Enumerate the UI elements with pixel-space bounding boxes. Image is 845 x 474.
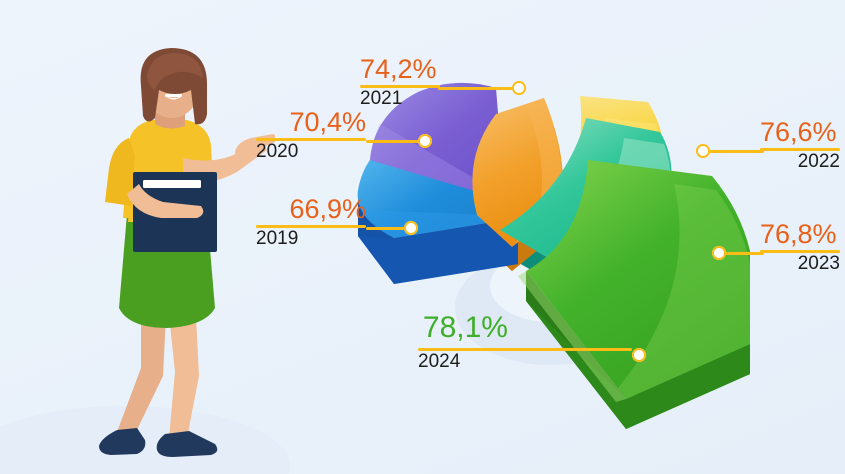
- woman-pointing-illustration: [55, 46, 275, 466]
- marker-dot-2020: [418, 134, 432, 148]
- marker-dot-2024: [632, 348, 646, 362]
- callout-2020-value: 70,4%: [256, 108, 366, 136]
- callout-2019-year: 2019: [256, 228, 366, 250]
- callout-2023: 76,8% 2023: [760, 220, 845, 275]
- callout-2020: 70,4% 2020: [256, 108, 366, 163]
- callout-2019-value: 66,9%: [256, 195, 366, 223]
- callout-2021: 74,2% 2021: [360, 55, 440, 110]
- callout-2023-value: 76,8%: [760, 220, 845, 248]
- callout-2019: 66,9% 2019: [256, 195, 366, 250]
- callout-2021-year: 2021: [360, 88, 440, 110]
- infographic-canvas: 74,2% 2021 70,4% 2020 66,9% 2019 76,6% 2…: [0, 0, 845, 474]
- callout-2020-year: 2020: [256, 141, 366, 163]
- callout-2022: 76,6% 2022: [760, 118, 845, 173]
- marker-dot-2023: [712, 246, 726, 260]
- callout-2023-year: 2023: [760, 253, 840, 275]
- callout-2022-year: 2022: [760, 151, 840, 173]
- callout-2022-value: 76,6%: [760, 118, 845, 146]
- callout-2021-value: 74,2%: [360, 55, 440, 83]
- leader-line-2023: [722, 252, 764, 255]
- leader-line-2020: [366, 140, 424, 143]
- callout-2024-value: 78,1%: [418, 312, 508, 344]
- marker-dot-2019: [404, 221, 418, 235]
- marker-dot-2022: [696, 144, 710, 158]
- marker-dot-2021: [512, 81, 526, 95]
- leader-line-2021: [438, 87, 518, 90]
- callout-2024: 78,1% 2024: [418, 312, 508, 372]
- leader-line-2022: [706, 150, 764, 153]
- callout-2024-year: 2024: [418, 351, 508, 373]
